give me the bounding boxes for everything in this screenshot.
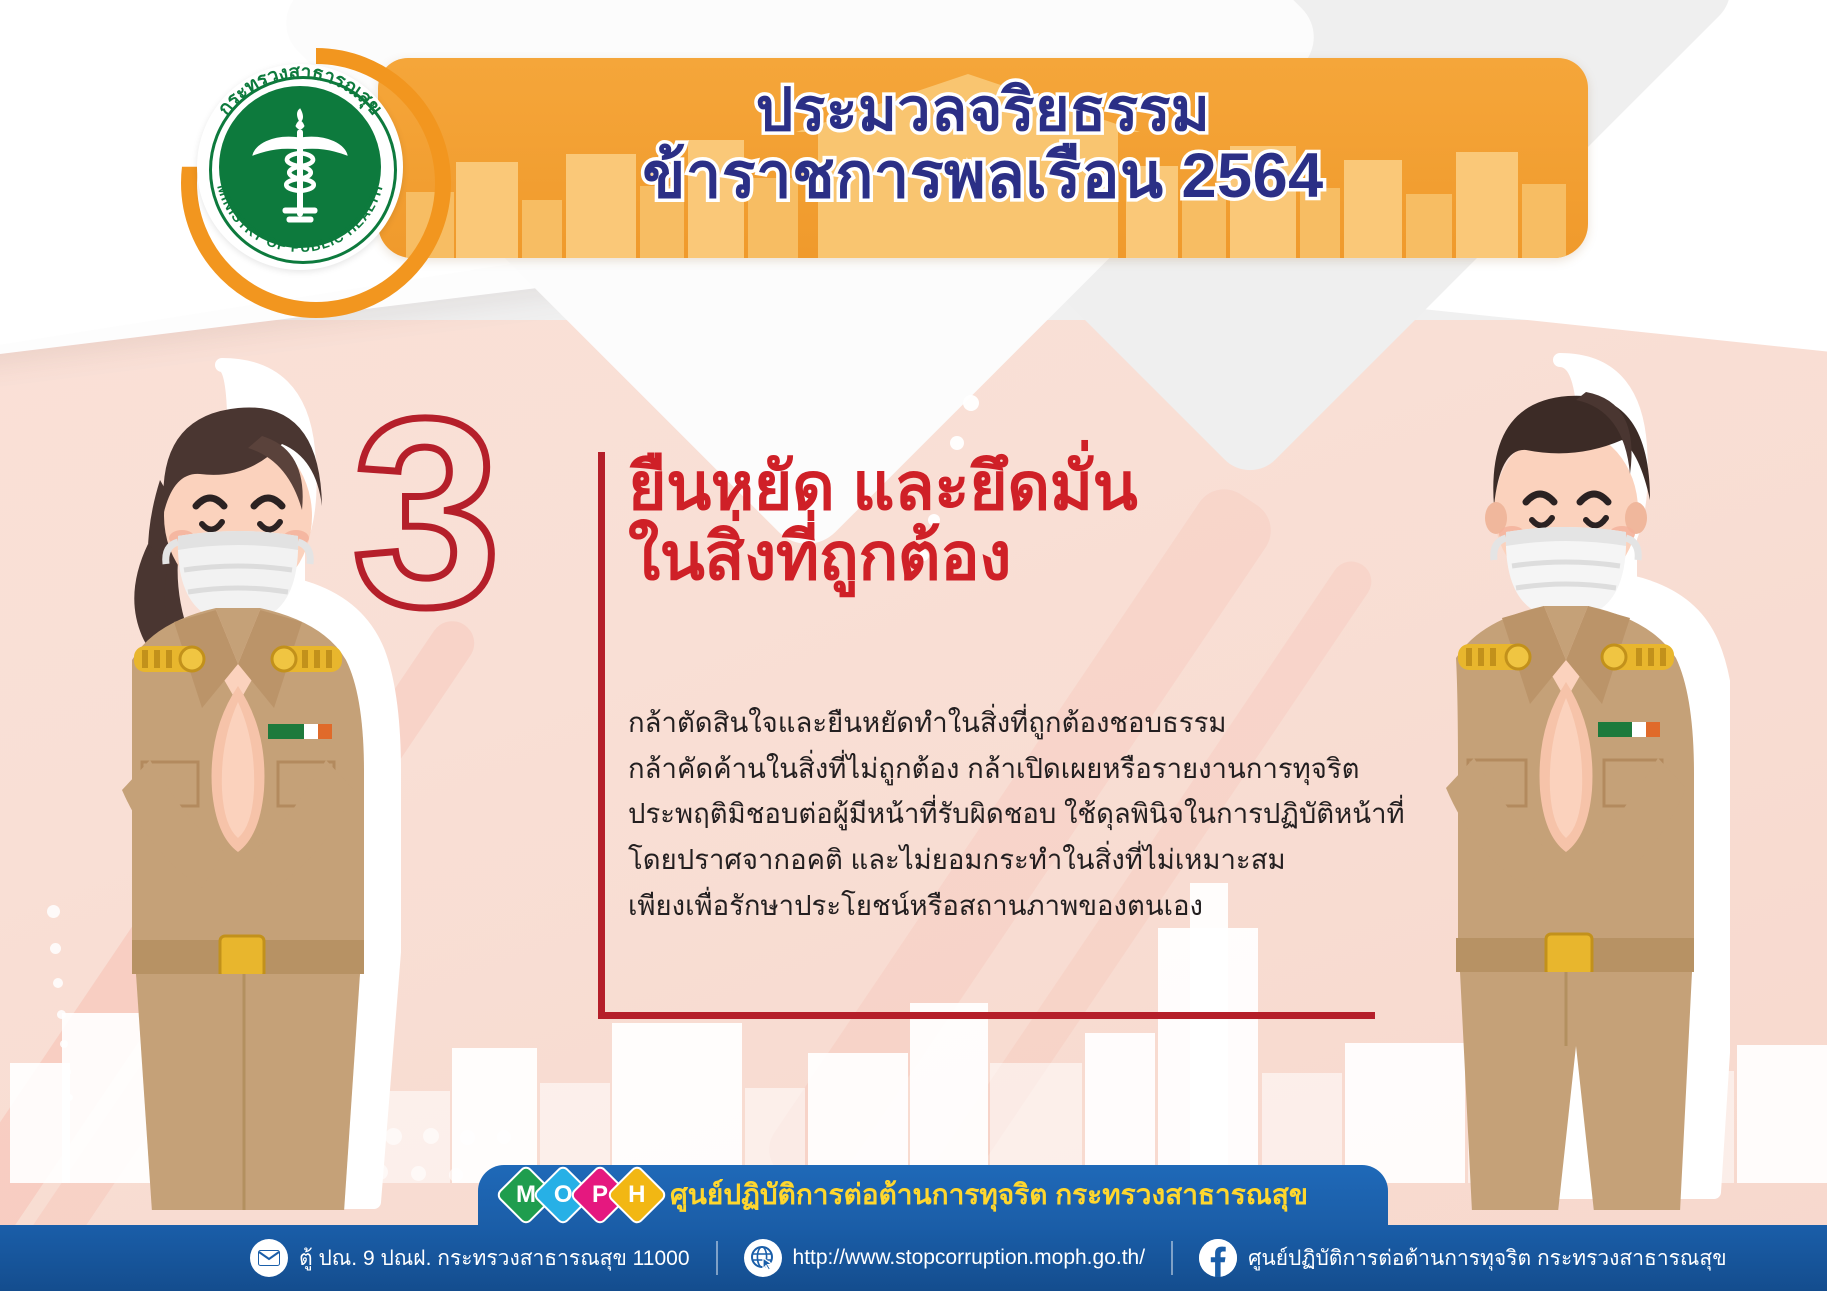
- footer-item-website[interactable]: http://www.stopcorruption.moph.go.th/: [744, 1239, 1146, 1277]
- footer-facebook-text: ศูนย์ปฏิบัติการต่อต้านการทุจริต กระทรวงส…: [1248, 1242, 1727, 1275]
- title-line-2: ข้าราชการพลเรือน 2564: [378, 144, 1588, 208]
- footer-contact-bar: ตู้ ปณ. 9 ปณฝ. กระทรวงสาธารณสุข 11000 ht…: [0, 1225, 1827, 1291]
- footer-item-mail: ตู้ ปณ. 9 ปณฝ. กระทรวงสาธารณสุข 11000: [250, 1239, 690, 1277]
- heading-line-2: ในสิ่งที่ถูกต้อง: [628, 522, 1388, 592]
- moph-letter-h: H: [606, 1164, 668, 1226]
- page-title: ประมวลจริยธรรม ข้าราชการพลเรือน 2564: [378, 80, 1588, 208]
- footer-divider-2: [1171, 1241, 1173, 1275]
- moph-wordmark-logo: M O P H: [504, 1173, 652, 1217]
- body-line: กล้าคัดค้านในสิ่งที่ไม่ถูกต้อง กล้าเปิดเ…: [628, 746, 1418, 792]
- body-line: โดยปราศจากอคติ และไม่ยอมกระทำในสิ่งที่ไม…: [628, 837, 1418, 883]
- item-number: 3: [352, 378, 501, 646]
- facebook-icon: [1199, 1239, 1237, 1277]
- globe-cursor-icon: [744, 1239, 782, 1277]
- footer-mail-text: ตู้ ปณ. 9 ปณฝ. กระทรวงสาธารณสุข 11000: [299, 1242, 690, 1275]
- body-line: เพียงเพื่อรักษาประโยชน์หรือสถานภาพของตนเ…: [628, 883, 1418, 929]
- body-line: กล้าตัดสินใจและยืนหยัดทำในสิ่งที่ถูกต้อง…: [628, 700, 1418, 746]
- header-banner: ประมวลจริยธรรม ข้าราชการพลเรือน 2564: [378, 58, 1588, 258]
- poster-canvas: ประมวลจริยธรรม ข้าราชการพลเรือน 2564 กระ…: [0, 0, 1827, 1291]
- male-officer-illustration: [1400, 330, 1730, 1210]
- footer-item-facebook[interactable]: ศูนย์ปฏิบัติการต่อต้านการทุจริต กระทรวงส…: [1199, 1239, 1727, 1277]
- footer-tab-label: ศูนย์ปฏิบัติการต่อต้านการทุจริต กระทรวงส…: [670, 1173, 1308, 1217]
- footer-website-text: http://www.stopcorruption.moph.go.th/: [793, 1246, 1146, 1270]
- caduceus-icon: [249, 108, 351, 228]
- heading-line-1: ยืนหยัด และยึดมั่น: [628, 449, 1137, 523]
- title-line-1: ประมวลจริยธรรม: [756, 77, 1211, 143]
- footer-divider-1: [716, 1241, 718, 1275]
- envelope-icon: [250, 1239, 288, 1277]
- section-heading: ยืนหยัด และยึดมั่น ในสิ่งที่ถูกต้อง: [628, 452, 1388, 592]
- moph-seal: กระทรวงสาธารณสุข MINISTRY OF PUBLIC HEAL…: [175, 42, 425, 292]
- footer-tab: M O P H ศูนย์ปฏิบัติการต่อต้านการทุจริต …: [478, 1165, 1388, 1225]
- section-body: กล้าตัดสินใจและยืนหยัดทำในสิ่งที่ถูกต้อง…: [628, 700, 1418, 928]
- body-line: ประพฤติมิชอบต่อผู้มีหน้าที่รับผิดชอบ ใช้…: [628, 791, 1418, 837]
